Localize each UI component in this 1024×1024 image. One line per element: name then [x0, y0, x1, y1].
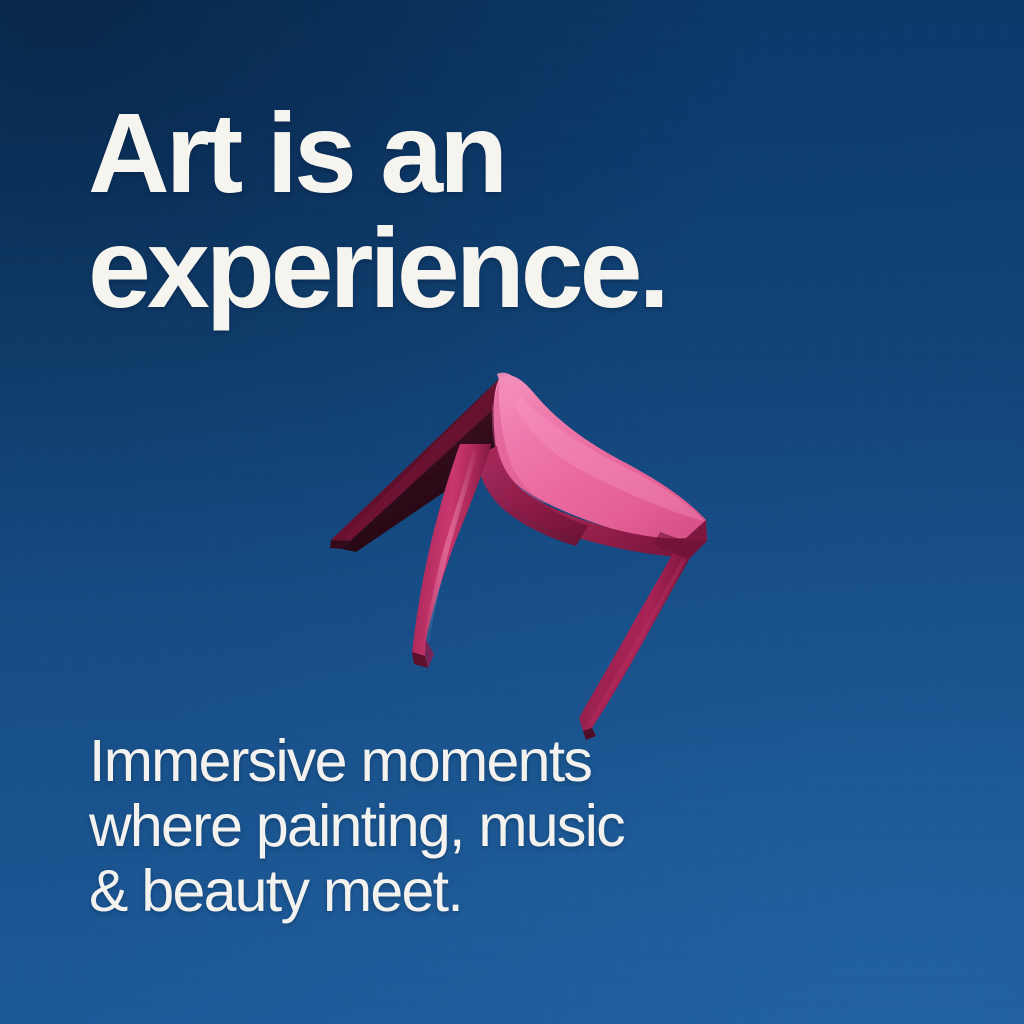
- page-title: Art is an experience.: [88, 96, 968, 326]
- poster-canvas: Art is an experience. Immersive moments …: [0, 0, 1024, 1024]
- body-copy: Immersive moments where painting, music …: [89, 729, 849, 924]
